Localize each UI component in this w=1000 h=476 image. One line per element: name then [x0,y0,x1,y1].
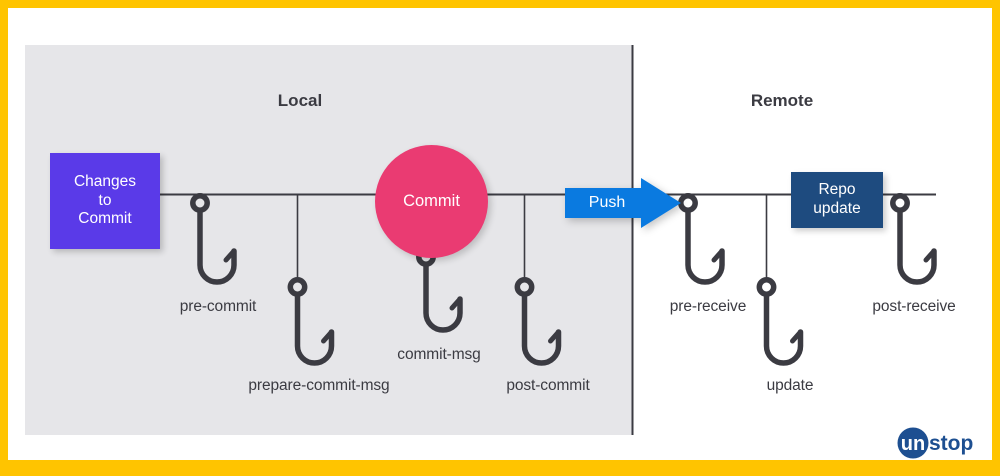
unstop-logo-un: un [901,433,925,455]
repo-update-box[interactable]: Repo update [791,172,883,228]
hook-label-pre-receive: pre-receive [670,298,746,316]
changes-to-commit-box[interactable]: Changes to Commit [50,153,160,249]
push-arrow-label: Push [565,178,649,228]
unstop-logo-stop: stop [929,432,973,455]
hook-label-prepare-commit-msg: prepare-commit-msg [248,377,389,395]
panel-title-local: Local [278,91,322,111]
hook-label-commit-msg: commit-msg [397,346,480,364]
push-arrow[interactable]: Push [565,178,681,228]
commit-circle[interactable]: Commit [375,145,488,258]
changes-line-1: Changes [74,173,136,192]
hook-label-post-commit: post-commit [506,377,589,395]
hook-label-post-receive: post-receive [872,298,955,316]
diagram-frame: Local Remote Changes to Commit Commit Pu… [8,8,992,460]
unstop-logo: un stop [896,426,986,460]
changes-line-2: to [74,192,136,211]
commit-circle-label: Commit [403,191,460,211]
changes-line-3: Commit [74,210,136,229]
unstop-logo-mark: un stop [896,426,986,460]
hook-label-update: update [767,377,814,395]
repo-line-2: update [813,200,860,219]
diagram-stage: Local Remote Changes to Commit Commit Pu… [8,8,992,460]
panel-title-remote: Remote [751,91,813,111]
repo-line-1: Repo [813,181,860,200]
hook-label-pre-commit: pre-commit [180,298,257,316]
